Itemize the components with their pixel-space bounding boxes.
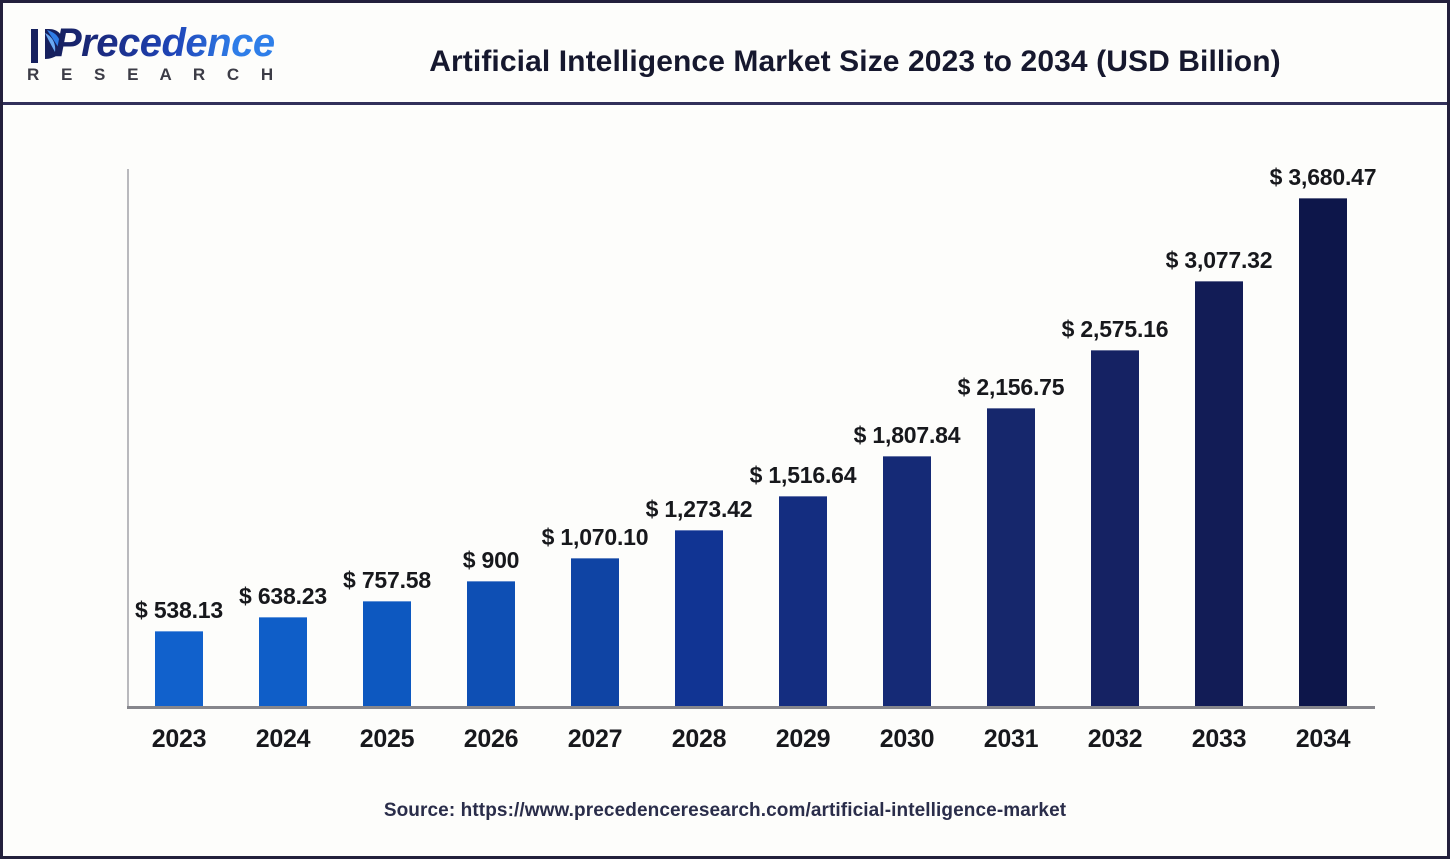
bar-group[interactable]: $ 3,077.32 [1167,169,1271,706]
bar-2029[interactable] [779,496,827,706]
bar-2024[interactable] [259,617,307,706]
bar-group[interactable]: $ 1,070.10 [543,169,647,706]
bar-group[interactable]: $ 1,273.42 [647,169,751,706]
bar-group[interactable]: $ 900 [439,169,543,706]
x-axis-label-2030: 2030 [855,725,959,754]
bar-2033[interactable] [1195,281,1243,706]
x-axis-labels: 2023202420252026202720282029203020312032… [127,725,1375,765]
precedence-research-logo: Precedence R E S E A R C H [25,20,275,90]
bar-value-label-2023: $ 538.13 [135,597,223,624]
x-axis-label-2029: 2029 [751,725,855,754]
bar-value-label-2034: $ 3,680.47 [1270,164,1377,191]
x-axis-label-2028: 2028 [647,725,751,754]
bar-2025[interactable] [363,601,411,706]
bar-2030[interactable] [883,456,931,706]
x-axis-line [127,706,1375,709]
bar-2027[interactable] [571,558,619,706]
bar-value-label-2032: $ 2,575.16 [1062,316,1169,343]
bar-group[interactable]: $ 1,516.64 [751,169,855,706]
page-header: Precedence R E S E A R C H Artificial In… [3,3,1447,105]
bar-value-label-2024: $ 638.23 [239,583,327,610]
bar-group[interactable]: $ 2,575.16 [1063,169,1167,706]
bar-value-label-2025: $ 757.58 [343,567,431,594]
bar-group[interactable]: $ 538.13 [127,169,231,706]
bar-group[interactable]: $ 638.23 [231,169,335,706]
x-axis-label-2032: 2032 [1063,725,1167,754]
bar-value-label-2033: $ 3,077.32 [1166,247,1273,274]
bar-value-label-2029: $ 1,516.64 [750,462,857,489]
bar-2023[interactable] [155,631,203,706]
bar-group[interactable]: $ 2,156.75 [959,169,1063,706]
bar-value-label-2026: $ 900 [463,547,520,574]
bar-value-label-2031: $ 2,156.75 [958,374,1065,401]
x-axis-label-2025: 2025 [335,725,439,754]
chart-plot-area: $ 538.13$ 638.23$ 757.58$ 900$ 1,070.10$… [3,105,1447,859]
bar-value-label-2030: $ 1,807.84 [854,422,961,449]
bar-2032[interactable] [1091,350,1139,706]
x-axis-label-2027: 2027 [543,725,647,754]
x-axis-label-2031: 2031 [959,725,1063,754]
x-axis-label-2033: 2033 [1167,725,1271,754]
bar-value-label-2027: $ 1,070.10 [542,524,649,551]
bar-series: $ 538.13$ 638.23$ 757.58$ 900$ 1,070.10$… [127,169,1375,706]
x-axis-label-2034: 2034 [1271,725,1375,754]
bar-2031[interactable] [987,408,1035,706]
logo-subtitle: R E S E A R C H [27,65,282,85]
x-axis-label-2026: 2026 [439,725,543,754]
chart-page: Precedence R E S E A R C H Artificial In… [0,0,1450,859]
bar-2034[interactable] [1299,198,1347,706]
source-caption: Source: https://www.precedenceresearch.c… [3,800,1447,822]
bar-value-label-2028: $ 1,273.42 [646,496,753,523]
page-title: Artificial Intelligence Market Size 2023… [303,45,1407,79]
bar-2026[interactable] [467,581,515,706]
x-axis-label-2023: 2023 [127,725,231,754]
x-axis-label-2024: 2024 [231,725,335,754]
logo-wordmark: Precedence [55,20,275,66]
bar-group[interactable]: $ 1,807.84 [855,169,959,706]
bar-2028[interactable] [675,530,723,706]
bar-group[interactable]: $ 757.58 [335,169,439,706]
bar-group[interactable]: $ 3,680.47 [1271,169,1375,706]
